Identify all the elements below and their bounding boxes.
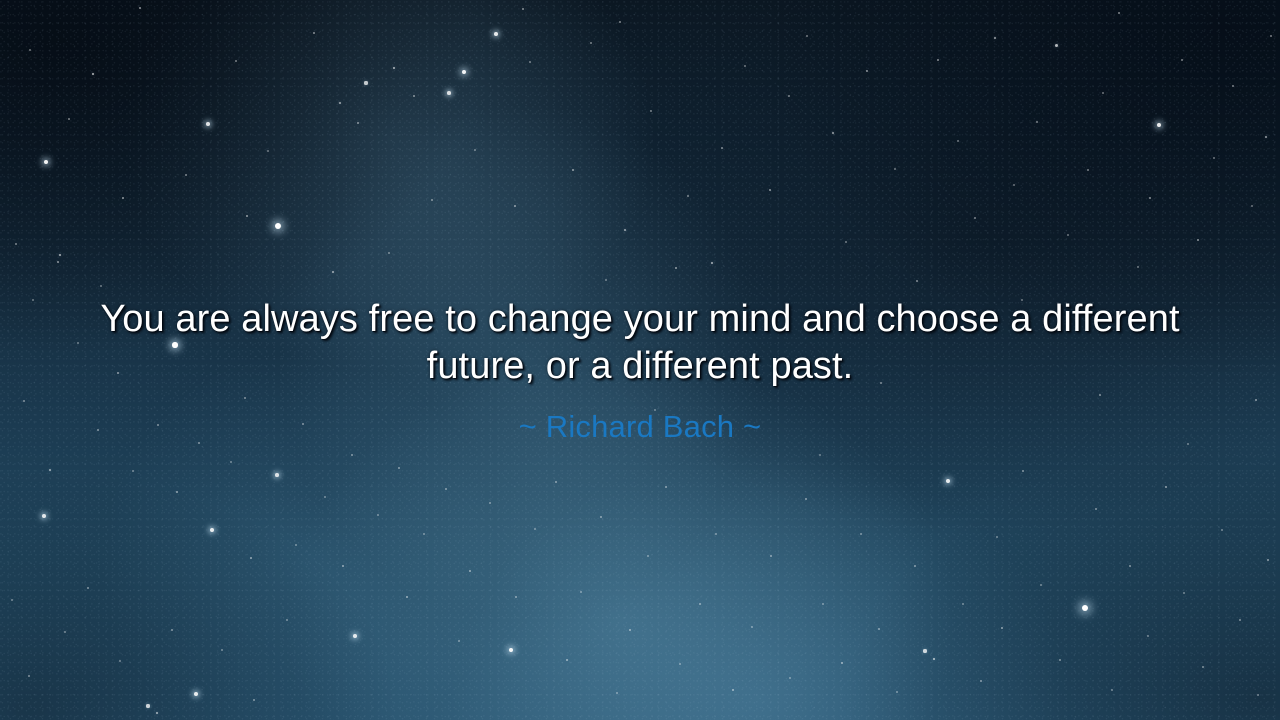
quote-text-block: You are always free to change your mind … — [0, 0, 1280, 720]
quote-attribution: ~ Richard Bach ~ — [0, 408, 1280, 446]
quote-slide: You are always free to change your mind … — [0, 0, 1280, 720]
quote-text: You are always free to change your mind … — [60, 296, 1220, 390]
